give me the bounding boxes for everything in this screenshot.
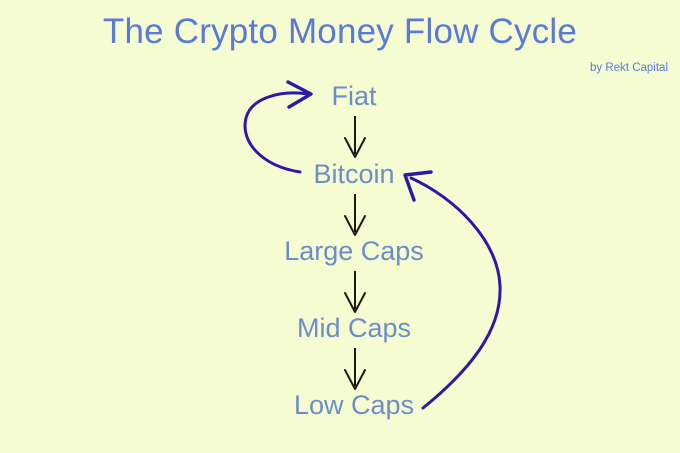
down-arrow-icon <box>340 114 370 160</box>
flow-node-bitcoin: Bitcoin <box>184 161 524 188</box>
flow-node-fiat: Fiat <box>184 83 524 110</box>
diagram-canvas: The Crypto Money Flow Cycle by Rekt Capi… <box>0 0 680 453</box>
down-arrow-icon <box>340 269 370 315</box>
curved-arrow-icon-low-caps-to-bitcoin <box>405 172 500 408</box>
flow-node-low-caps: Low Caps <box>184 392 524 419</box>
flow-node-large-caps: Large Caps <box>184 238 524 265</box>
flow-diagram: Fiat Bitcoin Large Caps Mid Caps Low Cap… <box>0 0 680 453</box>
down-arrow-icon <box>340 192 370 238</box>
flow-node-mid-caps: Mid Caps <box>184 315 524 342</box>
down-arrow-icon <box>340 346 370 392</box>
